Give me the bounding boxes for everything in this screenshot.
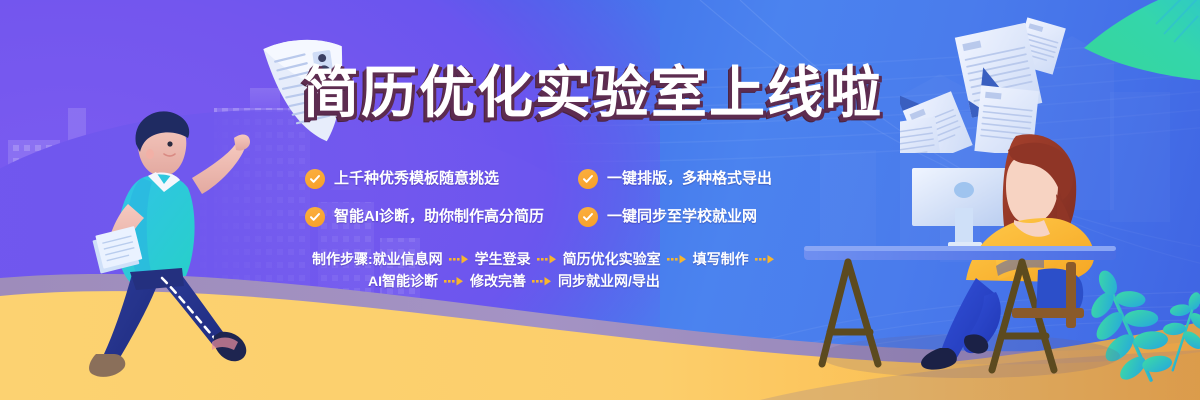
dashed-arrow-icon [755, 254, 775, 264]
step-label: 填写制作 [693, 249, 749, 269]
feature-row: 智能AI诊断，助你制作高分简历 一键同步至学校就业网 [305, 198, 785, 236]
feature-item: 智能AI诊断，助你制作高分简历 [305, 198, 578, 236]
feature-label: 上千种优秀模板随意挑选 [334, 170, 499, 188]
dashed-arrow-icon [537, 254, 557, 264]
dashed-arrow-icon [667, 254, 687, 264]
feature-item: 一键同步至学校就业网 [578, 198, 785, 236]
check-circle-icon [578, 207, 598, 227]
promo-banner: 简历优化实验室上线啦 上千种优秀模板随意挑选 一键排版，多种格式导出 [0, 0, 1200, 400]
steps-section: 制作步骤: 就业信息网 学生登录 简历优化实验室 填写制作 [312, 248, 732, 292]
feature-row: 上千种优秀模板随意挑选 一键排版，多种格式导出 [305, 160, 785, 198]
dashed-arrow-icon [532, 276, 552, 286]
step-label: 学生登录 [475, 249, 531, 269]
feature-label: 一键排版，多种格式导出 [607, 170, 772, 188]
step-label: 同步就业网/导出 [558, 271, 660, 291]
feature-item: 上千种优秀模板随意挑选 [305, 160, 578, 198]
check-circle-icon [305, 207, 325, 227]
step-label: AI智能诊断 [368, 271, 438, 291]
steps-line-1: 制作步骤: 就业信息网 学生登录 简历优化实验室 填写制作 [312, 248, 732, 270]
banner-content: 简历优化实验室上线啦 上千种优秀模板随意挑选 一键排版，多种格式导出 [0, 0, 1200, 400]
step-label: 简历优化实验室 [563, 249, 661, 269]
feature-label: 一键同步至学校就业网 [607, 208, 757, 226]
step-label: 就业信息网 [373, 249, 443, 269]
steps-line-2: AI智能诊断 修改完善 同步就业网/导出 [312, 270, 732, 292]
dashed-arrow-icon [444, 276, 464, 286]
check-circle-icon [305, 169, 325, 189]
feature-item: 一键排版，多种格式导出 [578, 160, 785, 198]
feature-list: 上千种优秀模板随意挑选 一键排版，多种格式导出 智能AI诊断，助你制作高分简历 [305, 160, 785, 236]
dashed-arrow-icon [449, 254, 469, 264]
feature-label: 智能AI诊断，助你制作高分简历 [334, 208, 544, 226]
step-label: 修改完善 [470, 271, 526, 291]
page-title: 简历优化实验室上线啦 [303, 62, 883, 124]
steps-lead-label: 制作步骤: [312, 249, 373, 269]
check-circle-icon [578, 169, 598, 189]
